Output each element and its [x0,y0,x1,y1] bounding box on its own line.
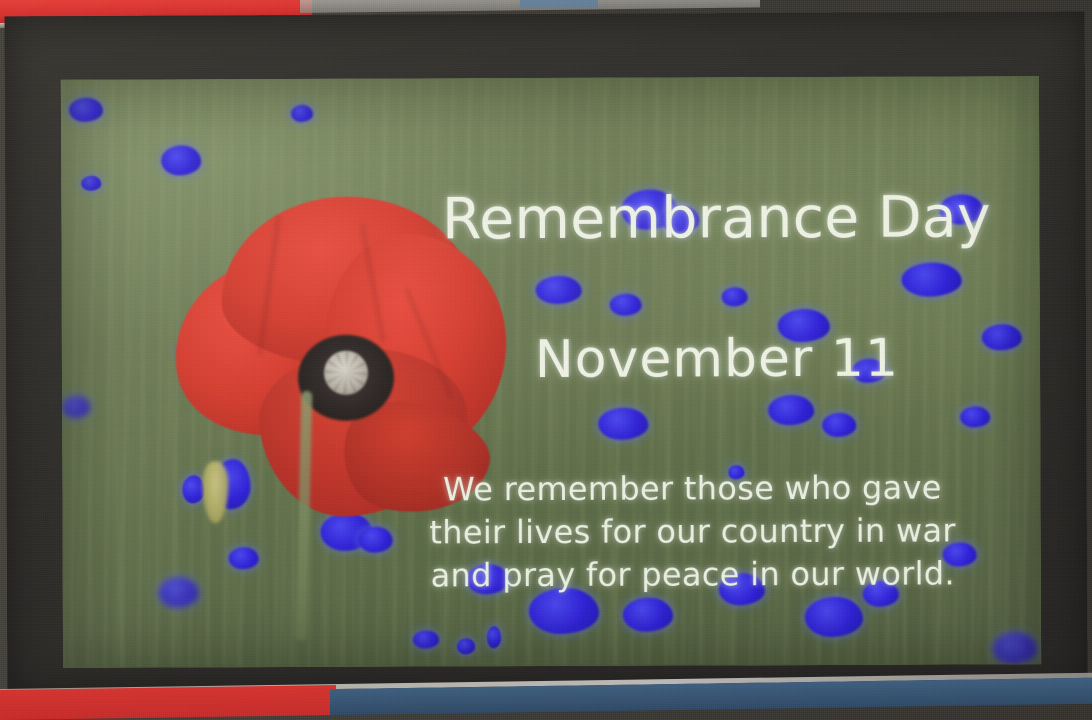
slide-body-line-1: We remember those who gave [392,468,992,508]
slide-text-block: Remembrance Day November 11 We remember … [61,76,1041,668]
slide-title: Remembrance Day [433,184,999,252]
slide-body-line-2: their lives for our country in war [393,511,993,551]
top-blue-strip [520,0,598,8]
photograph-of-screen: Remembrance Day November 11 We remember … [0,0,1092,720]
slide-body-line-3: and pray for peace in our world. [393,554,993,594]
bottom-red-strip [0,685,336,720]
presentation-slide[interactable]: Remembrance Day November 11 We remember … [61,76,1041,668]
slide-subtitle: November 11 [434,328,1000,390]
